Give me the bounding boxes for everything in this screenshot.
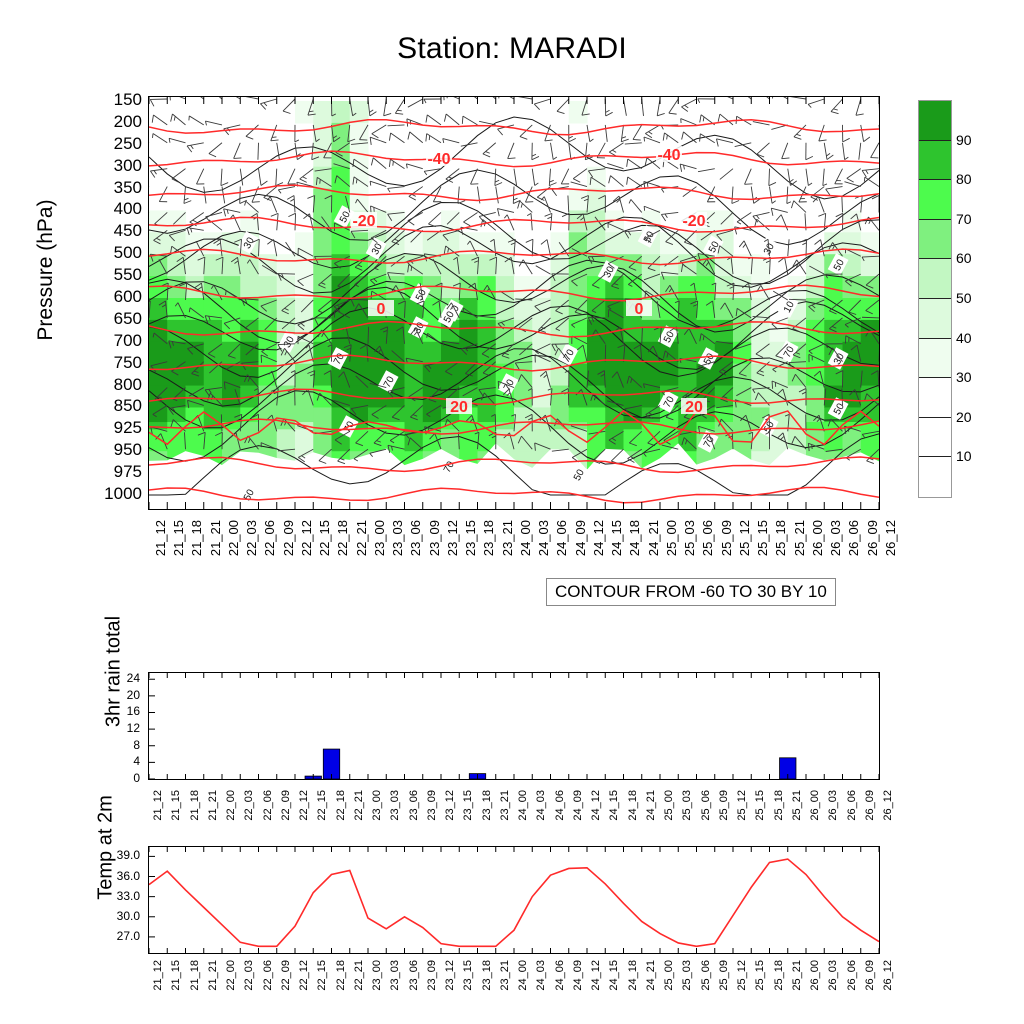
main-y-tick-label: 600 (82, 287, 142, 307)
x-tick-label: 25_03 (682, 520, 697, 556)
x-tick-label: 22_09 (281, 520, 296, 556)
x-tick-label: 23_15 (462, 790, 474, 821)
x-tick-label: 24_18 (627, 520, 642, 556)
x-tick-label: 23_21 (499, 960, 511, 991)
main-y-tick-label: 550 (82, 265, 142, 285)
rain-y-tick-label: 24 (96, 671, 140, 685)
x-tick-label: 25_18 (773, 790, 785, 821)
x-tick-label: 22_09 (280, 960, 292, 991)
x-tick-label: 26_00 (809, 960, 821, 991)
main-y-tick-label: 800 (82, 375, 142, 395)
x-tick-label: 25_21 (792, 520, 807, 556)
x-tick-label: 25_18 (773, 960, 785, 991)
x-tick-label: 23_03 (390, 520, 405, 556)
x-tick-label: 26_00 (809, 790, 821, 821)
x-tick-label: 25_00 (664, 520, 679, 556)
main-y-axis-labels: 1502002503003504004505005506006507007508… (78, 96, 142, 508)
x-tick-label: 24_12 (590, 790, 602, 821)
colorbar-tick-label: 20 (956, 409, 972, 425)
x-tick-label: 24_09 (572, 790, 584, 821)
x-tick-label: 22_18 (335, 960, 347, 991)
x-tick-label: 22_21 (353, 790, 365, 821)
x-tick-label: 23_03 (389, 960, 401, 991)
x-tick-label: 22_15 (316, 960, 328, 991)
svg-text:-20: -20 (352, 213, 375, 230)
x-tick-label: 25_15 (755, 520, 770, 556)
x-tick-label: 22_18 (335, 520, 350, 556)
temp-x-axis-labels: 21_1221_1521_1821_2122_0022_0322_0622_09… (148, 960, 878, 1006)
x-tick-label: 24_09 (572, 960, 584, 991)
main-y-tick-label: 200 (82, 112, 142, 132)
temp-y-tick-label: 39.0 (88, 848, 140, 862)
x-tick-label: 23_12 (444, 790, 456, 821)
colorbar-tick-label: 40 (956, 330, 972, 346)
svg-text:-40: -40 (657, 147, 680, 164)
x-tick-label: 24_18 (627, 960, 639, 991)
x-tick-label: 24_06 (554, 960, 566, 991)
x-tick-label: 24_21 (646, 520, 661, 556)
x-tick-label: 26_09 (865, 520, 880, 556)
svg-text:20: 20 (685, 399, 703, 416)
x-tick-label: 22_06 (262, 960, 274, 991)
main-x-axis-labels: 21_1221_1521_1821_2122_0022_0322_0622_09… (148, 520, 878, 580)
x-tick-label: 22_12 (298, 790, 310, 821)
x-tick-label: 21_21 (207, 790, 219, 821)
x-tick-label: 24_06 (554, 520, 569, 556)
x-tick-label: 25_21 (791, 790, 803, 821)
x-tick-label: 23_00 (372, 520, 387, 556)
x-tick-label: 25_15 (754, 960, 766, 991)
x-tick-label: 24_21 (645, 790, 657, 821)
colorbar-tick-label: 10 (956, 448, 972, 464)
main-y-tick-label: 950 (82, 440, 142, 460)
x-tick-label: 26_03 (827, 960, 839, 991)
x-tick-label: 25_09 (718, 790, 730, 821)
x-tick-label: 23_21 (499, 790, 511, 821)
x-tick-label: 22_09 (280, 790, 292, 821)
x-tick-label: 25_03 (681, 960, 693, 991)
main-y-tick-label: 500 (82, 243, 142, 263)
x-tick-label: 26_12 (883, 520, 898, 556)
x-tick-label: 22_12 (299, 520, 314, 556)
x-tick-label: 25_18 (773, 520, 788, 556)
main-y-tick-label: 450 (82, 221, 142, 241)
x-tick-label: 23_18 (481, 790, 493, 821)
x-tick-label: 26_09 (864, 790, 876, 821)
x-tick-label: 25_06 (700, 520, 715, 556)
x-tick-label: 22_03 (244, 520, 259, 556)
x-tick-label: 22_18 (335, 790, 347, 821)
x-tick-label: 21_15 (170, 960, 182, 991)
x-tick-label: 22_06 (262, 790, 274, 821)
x-tick-label: 26_06 (846, 960, 858, 991)
temp-y-tick-label: 27.0 (88, 929, 140, 943)
x-tick-label: 21_21 (208, 520, 223, 556)
x-tick-label: 21_18 (189, 520, 204, 556)
x-tick-label: 26_12 (882, 960, 894, 991)
x-tick-label: 23_18 (481, 960, 493, 991)
rain-y-tick-label: 16 (96, 704, 140, 718)
x-tick-label: 21_18 (189, 960, 201, 991)
x-tick-label: 24_09 (573, 520, 588, 556)
colorbar-tick-label: 50 (956, 290, 972, 306)
colorbar-tick-label: 60 (956, 250, 972, 266)
main-y-tick-label: 350 (82, 178, 142, 198)
x-tick-label: 23_00 (371, 790, 383, 821)
colorbar-tick-label: 90 (956, 132, 972, 148)
main-y-tick-label: 1000 (82, 484, 142, 504)
main-y-tick-label: 300 (82, 156, 142, 176)
x-tick-label: 25_21 (791, 960, 803, 991)
x-tick-label: 23_12 (445, 520, 460, 556)
x-tick-label: 24_12 (591, 520, 606, 556)
x-tick-label: 23_06 (408, 960, 420, 991)
x-tick-label: 23_03 (389, 790, 401, 821)
x-tick-label: 21_18 (189, 790, 201, 821)
x-tick-label: 26_06 (846, 520, 861, 556)
x-tick-label: 24_18 (627, 790, 639, 821)
temp-y-axis-labels: 27.030.033.036.039.0 (88, 846, 140, 952)
x-tick-label: 24_03 (535, 790, 547, 821)
x-tick-label: 22_03 (243, 960, 255, 991)
x-tick-label: 25_15 (754, 790, 766, 821)
rain-y-tick-label: 20 (96, 688, 140, 702)
contour-legend-note: CONTOUR FROM -60 TO 30 BY 10 (546, 578, 836, 606)
x-tick-label: 23_12 (444, 960, 456, 991)
colorbar-tick-label: 70 (956, 211, 972, 227)
svg-text:0: 0 (377, 301, 386, 318)
svg-text:0: 0 (635, 301, 644, 318)
temp-y-tick-label: 30.0 (88, 909, 140, 923)
x-tick-label: 21_15 (170, 790, 182, 821)
main-y-tick-label: 250 (82, 134, 142, 154)
x-tick-label: 23_09 (426, 960, 438, 991)
main-y-tick-label: 150 (82, 90, 142, 110)
svg-text:-20: -20 (682, 213, 705, 230)
x-tick-label: 24_06 (554, 790, 566, 821)
x-tick-label: 25_12 (736, 960, 748, 991)
rain-bar-chart[interactable] (148, 672, 880, 780)
main-y-tick-label: 750 (82, 353, 142, 373)
colorbar-tick-label: 80 (956, 171, 972, 187)
x-tick-label: 24_15 (608, 960, 620, 991)
x-tick-label: 21_15 (171, 520, 186, 556)
x-tick-label: 26_12 (882, 790, 894, 821)
temp-y-tick-label: 33.0 (88, 889, 140, 903)
time-height-cross-section-plot[interactable]: 3030505030103050507050305030501050707070… (148, 96, 880, 510)
x-tick-label: 23_15 (462, 960, 474, 991)
x-tick-label: 21_12 (152, 790, 164, 821)
x-tick-label: 25_09 (718, 960, 730, 991)
x-tick-label: 22_00 (226, 520, 241, 556)
x-tick-label: 25_12 (737, 520, 752, 556)
colorbar-tick-label: 30 (956, 369, 972, 385)
x-tick-label: 23_18 (481, 520, 496, 556)
x-tick-label: 22_21 (353, 960, 365, 991)
x-tick-label: 22_12 (298, 960, 310, 991)
x-tick-label: 25_00 (663, 790, 675, 821)
x-tick-label: 22_15 (316, 790, 328, 821)
x-tick-label: 23_06 (408, 790, 420, 821)
x-tick-label: 21_12 (153, 520, 168, 556)
x-tick-label: 25_06 (700, 960, 712, 991)
svg-text:-40: -40 (427, 151, 450, 168)
x-tick-label: 23_00 (371, 960, 383, 991)
x-tick-label: 22_00 (225, 960, 237, 991)
main-y-tick-label: 700 (82, 331, 142, 351)
x-tick-label: 25_00 (663, 960, 675, 991)
page-title: Station: MARADI (0, 32, 1024, 66)
main-y-tick-label: 925 (82, 418, 142, 438)
x-tick-label: 24_00 (518, 520, 533, 556)
main-plot-svg: 3030505030103050507050305030501050707070… (149, 97, 879, 509)
temp-plot-svg (149, 847, 879, 953)
x-tick-label: 21_12 (152, 960, 164, 991)
x-tick-label: 24_00 (517, 960, 529, 991)
x-tick-label: 26_03 (827, 790, 839, 821)
x-tick-label: 23_09 (426, 790, 438, 821)
x-tick-label: 23_15 (463, 520, 478, 556)
main-y-tick-label: 975 (82, 462, 142, 482)
x-tick-label: 25_09 (719, 520, 734, 556)
main-y-axis-title: Pressure (hPa) (34, 120, 58, 420)
main-y-tick-label: 850 (82, 396, 142, 416)
x-tick-label: 24_15 (609, 520, 624, 556)
x-tick-label: 25_06 (700, 790, 712, 821)
x-tick-label: 26_09 (864, 960, 876, 991)
x-tick-label: 26_00 (810, 520, 825, 556)
x-tick-label: 22_21 (354, 520, 369, 556)
x-tick-label: 24_12 (590, 960, 602, 991)
x-tick-label: 26_06 (846, 790, 858, 821)
x-tick-label: 25_12 (736, 790, 748, 821)
x-tick-label: 22_03 (243, 790, 255, 821)
x-tick-label: 22_00 (225, 790, 237, 821)
x-tick-label: 21_21 (207, 960, 219, 991)
main-y-tick-label: 650 (82, 309, 142, 329)
x-tick-label: 25_03 (681, 790, 693, 821)
x-tick-label: 24_21 (645, 960, 657, 991)
rain-x-axis-labels: 21_1221_1521_1821_2122_0022_0322_0622_09… (148, 790, 878, 836)
x-tick-label: 22_06 (262, 520, 277, 556)
svg-text:20: 20 (450, 399, 468, 416)
x-tick-label: 24_03 (535, 960, 547, 991)
x-tick-label: 23_21 (500, 520, 515, 556)
colorbar-labels: 908070605040302010 (918, 100, 1008, 496)
x-tick-label: 23_06 (408, 520, 423, 556)
x-tick-label: 24_15 (608, 790, 620, 821)
x-tick-label: 22_15 (317, 520, 332, 556)
rain-plot-svg (149, 673, 879, 779)
x-tick-label: 24_03 (536, 520, 551, 556)
x-tick-label: 24_00 (517, 790, 529, 821)
x-tick-label: 23_09 (427, 520, 442, 556)
x-tick-label: 26_03 (828, 520, 843, 556)
main-y-tick-label: 400 (82, 199, 142, 219)
temperature-line-chart[interactable] (148, 846, 880, 954)
temp-y-tick-label: 36.0 (88, 869, 140, 883)
